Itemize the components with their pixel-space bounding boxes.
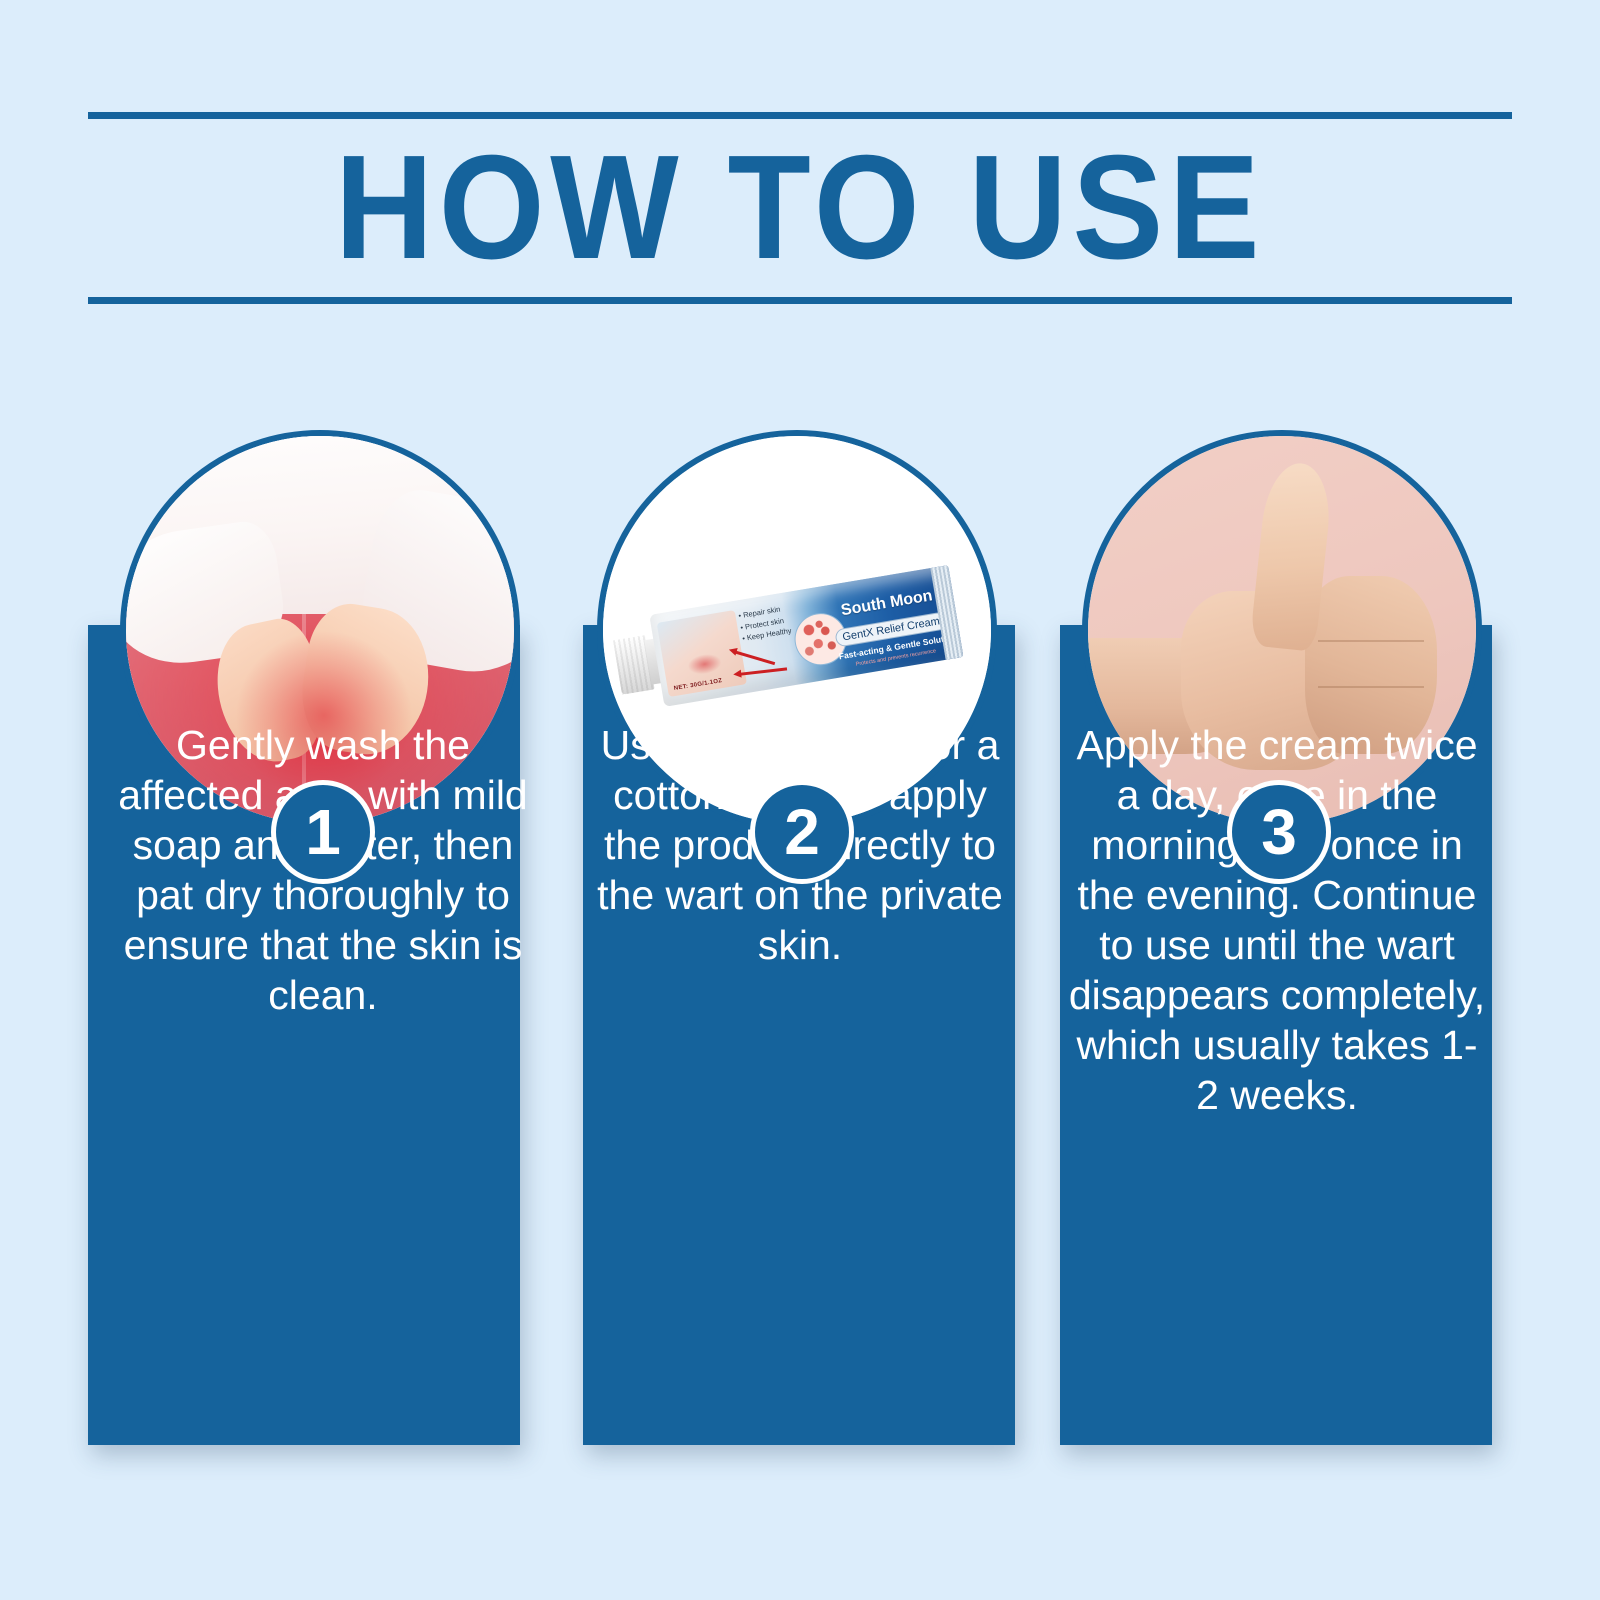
step-card-1: 1 Gently wash the affected area with mil… — [88, 420, 558, 1480]
tube-body: Repair skin Protect skin Keep Healthy NE… — [649, 565, 963, 707]
steps-row: 1 Gently wash the affected area with mil… — [0, 420, 1600, 1480]
tube-benefit-list: Repair skin Protect skin Keep Healthy — [737, 603, 792, 646]
cream-tube: Repair skin Protect skin Keep Healthy NE… — [609, 562, 984, 714]
step-number-1: 1 — [305, 800, 341, 864]
step-card-2: Repair skin Protect skin Keep Healthy NE… — [565, 420, 1035, 1480]
red-arrow-icon-2 — [738, 667, 786, 675]
page-header: HOW TO USE — [88, 112, 1512, 304]
step-number-2: 2 — [784, 800, 820, 864]
step-number-badge-3: 3 — [1227, 780, 1331, 884]
header-top-rule — [88, 112, 1512, 119]
step-number-badge-2: 2 — [750, 780, 854, 884]
step-card-3: 3 Apply the cream twice a day, once in t… — [1042, 420, 1512, 1480]
header-bottom-rule — [88, 297, 1512, 304]
step-number-badge-1: 1 — [271, 780, 375, 884]
page-title: HOW TO USE — [145, 134, 1455, 282]
step-number-3: 3 — [1261, 800, 1297, 864]
